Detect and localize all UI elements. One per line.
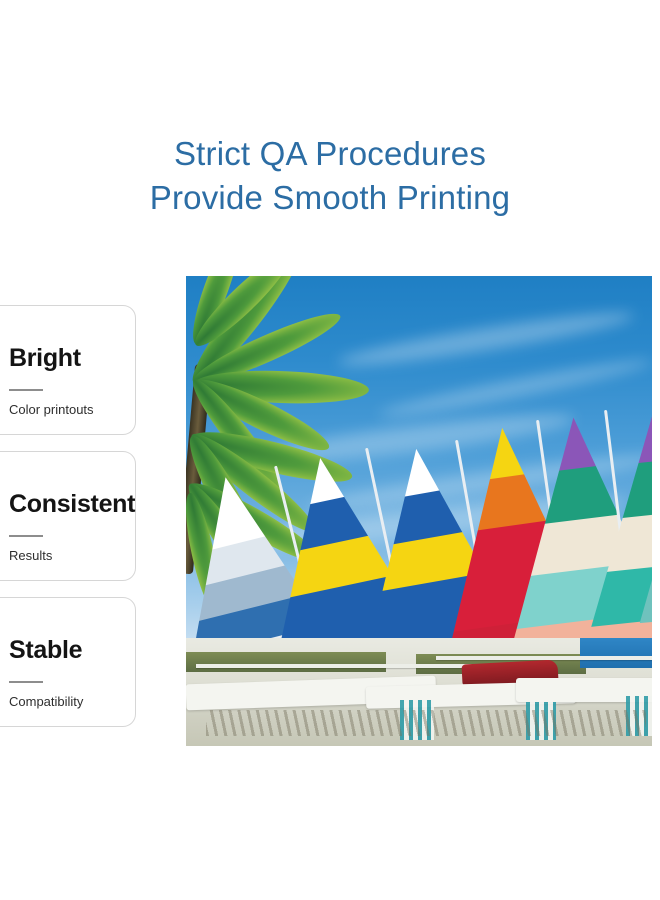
page-title-line-2: Provide Smooth Printing — [0, 176, 660, 220]
cloud — [377, 353, 652, 422]
feature-card-subtitle: Compatibility — [9, 694, 83, 709]
page-title-line-1: Strict QA Procedures — [0, 132, 660, 176]
sand-debris — [206, 710, 646, 736]
feature-card-stable: Stable Compatibility — [0, 597, 136, 727]
page-root: Strict QA Procedures Provide Smooth Prin… — [0, 0, 660, 900]
product-photo-frame — [176, 266, 660, 756]
beach-foreground — [186, 638, 652, 746]
feature-card-subtitle: Color printouts — [9, 402, 94, 417]
divider — [9, 681, 43, 683]
feature-card-list: Bright Color printouts Consistent Result… — [0, 305, 136, 743]
page-title: Strict QA Procedures Provide Smooth Prin… — [0, 132, 660, 220]
ocean-patch — [580, 638, 652, 668]
feature-card-bright: Bright Color printouts — [0, 305, 136, 435]
feature-card-consistent: Consistent Results — [0, 451, 136, 581]
feature-card-title: Consistent — [9, 490, 135, 519]
feature-card-subtitle: Results — [9, 548, 52, 563]
divider — [9, 535, 43, 537]
sailboats-photo — [186, 276, 652, 746]
boat-rail — [196, 664, 496, 668]
vegetation — [186, 652, 386, 672]
cloud — [336, 305, 636, 374]
feature-card-title: Bright — [9, 344, 81, 373]
divider — [9, 389, 43, 391]
feature-card-title: Stable — [9, 636, 82, 665]
